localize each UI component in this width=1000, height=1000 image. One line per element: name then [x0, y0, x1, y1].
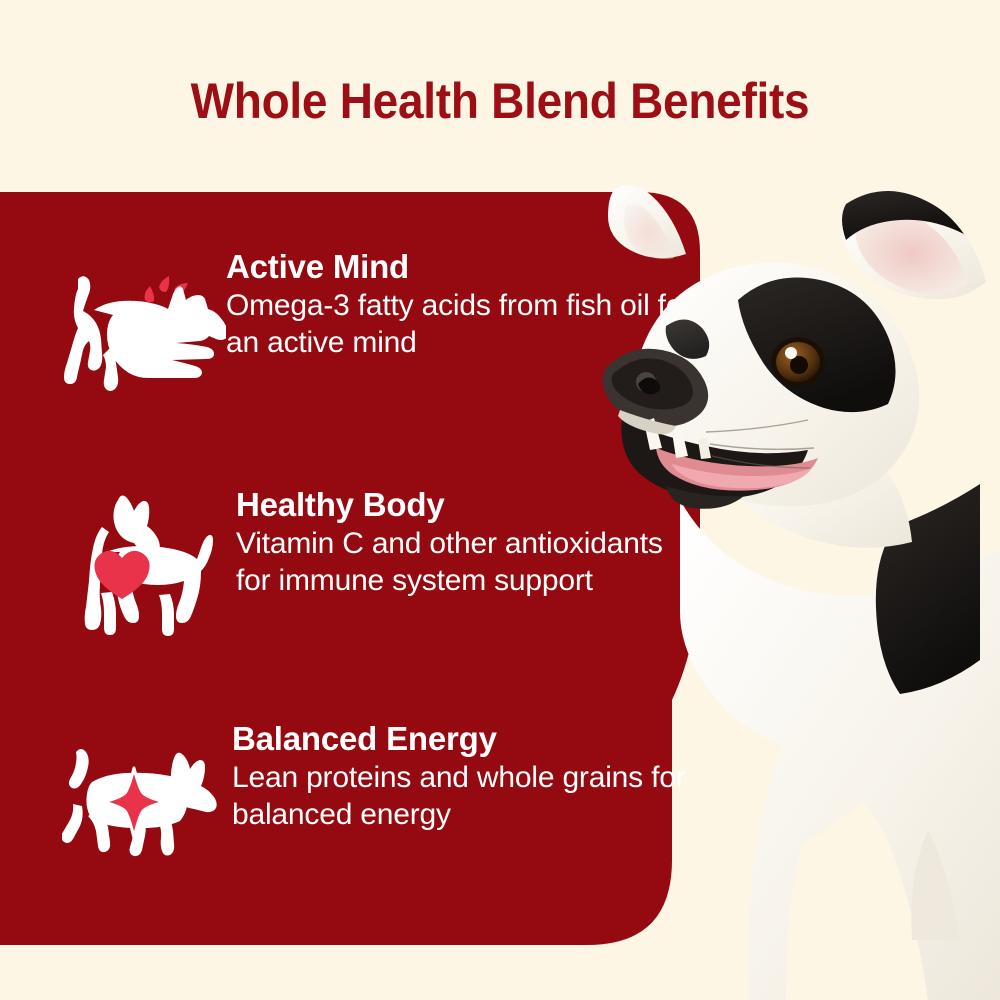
- heart-shape: [94, 551, 149, 599]
- benefit-description: Omega-3 fatty acids from fish oil for an…: [226, 287, 696, 361]
- benefit-text-healthy-body: Healthy Body Vitamin C and other antioxi…: [236, 484, 696, 600]
- benefit-description: Vitamin C and other antioxidants for imm…: [236, 525, 696, 599]
- dog-trotting-star-icon: [62, 740, 232, 890]
- benefit-title: Balanced Energy: [232, 720, 696, 758]
- benefit-item-active-mind: Active Mind Omega-3 fatty acids from fis…: [56, 246, 696, 402]
- dog-play-bow-sparks-icon: [56, 252, 226, 402]
- benefit-item-healthy-body: Healthy Body Vitamin C and other antioxi…: [56, 484, 696, 638]
- benefit-text-active-mind: Active Mind Omega-3 fatty acids from fis…: [226, 246, 696, 362]
- benefits-list: Active Mind Omega-3 fatty acids from fis…: [0, 0, 700, 1000]
- benefit-item-balanced-energy: Balanced Energy Lean proteins and whole …: [56, 718, 696, 890]
- benefit-text-balanced-energy: Balanced Energy Lean proteins and whole …: [232, 718, 696, 834]
- benefit-title: Healthy Body: [236, 486, 696, 524]
- benefit-title: Active Mind: [226, 248, 696, 286]
- benefit-description: Lean proteins and whole grains for balan…: [232, 759, 696, 833]
- dog-standing-heart-icon: [66, 488, 236, 638]
- benefits-graphic: Whole Health Blend Benefits: [0, 0, 1000, 1000]
